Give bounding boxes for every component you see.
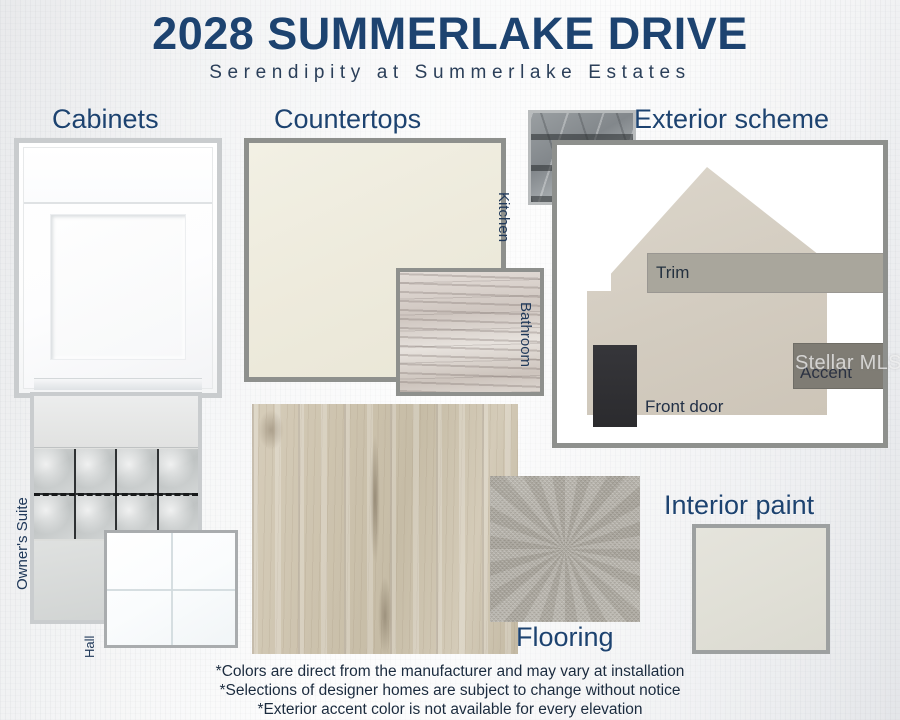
wood-grain-knot — [370, 434, 380, 564]
countertop-kitchen-label: Kitchen — [495, 192, 512, 242]
cabinet-base-rail — [34, 378, 202, 390]
wood-grain-knot — [258, 410, 284, 450]
section-label-interior-paint: Interior paint — [664, 490, 814, 521]
wood-grain-knot — [378, 576, 392, 656]
wall-tile-dashed-guide — [34, 493, 198, 496]
page-title: 2028 SUMMERLAKE DRIVE — [0, 8, 900, 60]
stellar-mls-watermark: Stellar MLS — [795, 352, 900, 375]
exterior-scheme-panel: Trim Accent Front door — [552, 140, 888, 448]
wall-tile-cell — [117, 449, 157, 493]
section-label-cabinets: Cabinets — [52, 104, 159, 135]
wall-tile-hall-label: Hall — [82, 636, 97, 658]
selection-board: 2028 SUMMERLAKE DRIVE Serendipity at Sum… — [0, 0, 900, 720]
disclaimer-footer: *Colors are direct from the manufacturer… — [0, 662, 900, 719]
flooring-carpet-swatch — [490, 476, 640, 622]
wall-tile-cell — [34, 495, 74, 539]
section-label-countertops: Countertops — [274, 104, 421, 135]
section-label-exterior-scheme: Exterior scheme — [634, 104, 829, 135]
cabinet-shaker-panel — [50, 214, 186, 360]
cabinets-swatch — [14, 138, 222, 398]
front-door-swatch — [593, 345, 637, 427]
cabinet-drawer-front — [24, 148, 212, 204]
hall-tile-grout-horizontal — [107, 589, 235, 591]
wall-tile-upper-field — [34, 396, 198, 448]
disclaimer-line-2: *Selections of designer homes are subjec… — [0, 681, 900, 700]
cabinet-door-face — [23, 147, 213, 389]
front-door-label: Front door — [645, 397, 723, 417]
exterior-trim-label: Trim — [656, 263, 689, 283]
countertop-bathroom-label: Bathroom — [517, 302, 534, 367]
section-label-flooring: Flooring — [516, 622, 614, 653]
page-subtitle: Serendipity at Summerlake Estates — [0, 62, 900, 84]
wall-tile-owners-suite-label: Owner's Suite — [14, 497, 31, 590]
wall-tile-cell — [34, 449, 74, 493]
disclaimer-line-3: *Exterior accent color is not available … — [0, 700, 900, 719]
wall-tile-hall-swatch — [104, 530, 238, 648]
wall-tile-cell — [76, 449, 116, 493]
interior-paint-swatch — [692, 524, 830, 654]
wall-tile-cell — [159, 449, 199, 493]
disclaimer-line-1: *Colors are direct from the manufacturer… — [0, 662, 900, 681]
flooring-wood-swatch — [252, 404, 518, 654]
exterior-trim-swatch: Trim — [647, 253, 887, 293]
